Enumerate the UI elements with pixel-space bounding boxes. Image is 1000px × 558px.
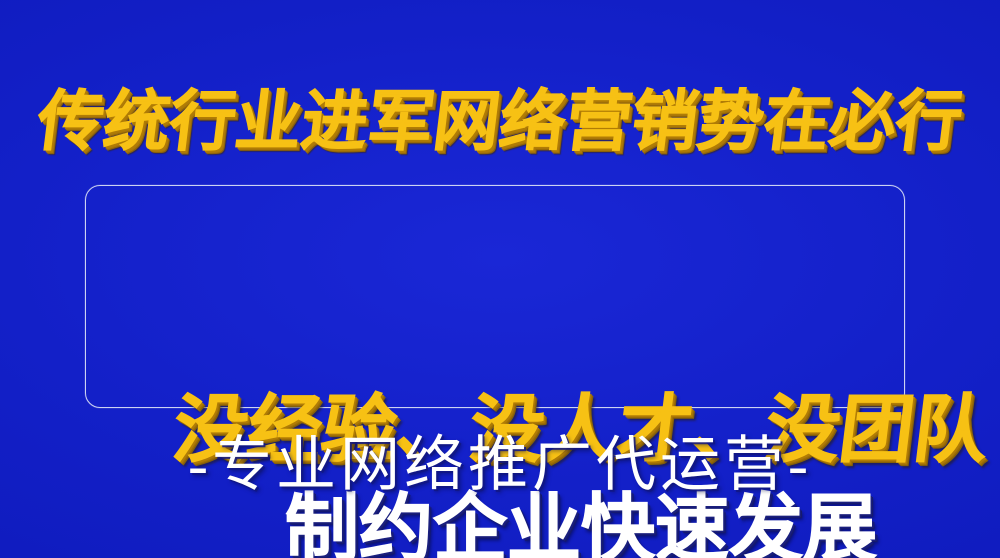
highlight-frame: 没经验、没人才、没团队 制约企业快速发展 xyxy=(85,185,905,408)
promotional-banner: 传统行业进军网络营销势在必行 没经验、没人才、没团队 制约企业快速发展 -专业网… xyxy=(0,0,1000,558)
headline-text: 传统行业进军网络营销势在必行 xyxy=(0,82,1000,160)
tagline-text: -专业网络推广代运营- xyxy=(0,428,1000,502)
